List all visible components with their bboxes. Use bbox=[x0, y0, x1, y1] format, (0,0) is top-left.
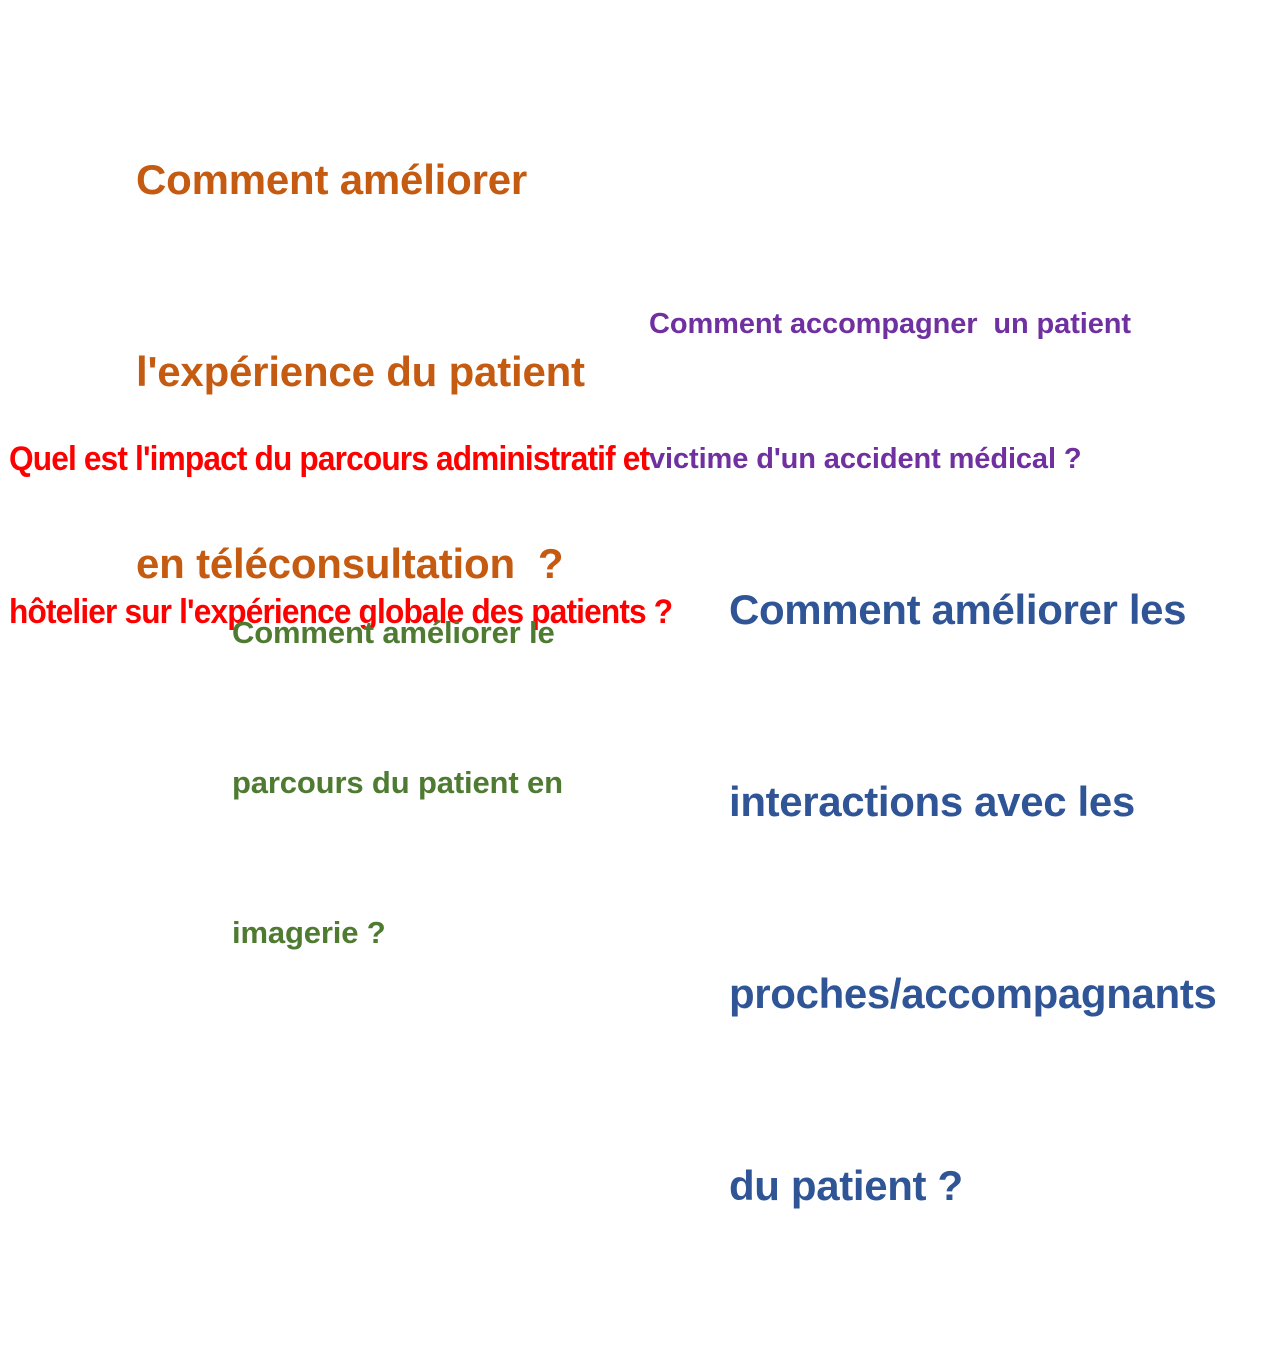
question-proches-accompagnants-line-2: interactions avec les bbox=[729, 770, 1216, 834]
question-proches-accompagnants-line-3: proches/accompagnants bbox=[729, 962, 1216, 1026]
question-proches-accompagnants-line-1: Comment améliorer les bbox=[729, 578, 1216, 642]
question-imagerie: Comment améliorer le parcours du patient… bbox=[232, 508, 563, 1058]
question-teleconsultation-line-1: Comment améliorer bbox=[136, 148, 585, 212]
question-parcours-administratif-line-1: Quel est l'impact du parcours administra… bbox=[9, 434, 672, 485]
slide-canvas: Comment améliorer l'expérience du patien… bbox=[0, 0, 1280, 720]
question-proches-accompagnants: Comment améliorer les interactions avec … bbox=[729, 450, 1216, 1346]
question-imagerie-line-2: parcours du patient en bbox=[232, 758, 563, 808]
question-proches-accompagnants-line-4: du patient ? bbox=[729, 1154, 1216, 1218]
question-imagerie-line-3: imagerie ? bbox=[232, 908, 563, 958]
question-imagerie-line-1: Comment améliorer le bbox=[232, 608, 563, 658]
question-accident-medical-line-1: Comment accompagner un patient bbox=[649, 302, 1131, 347]
